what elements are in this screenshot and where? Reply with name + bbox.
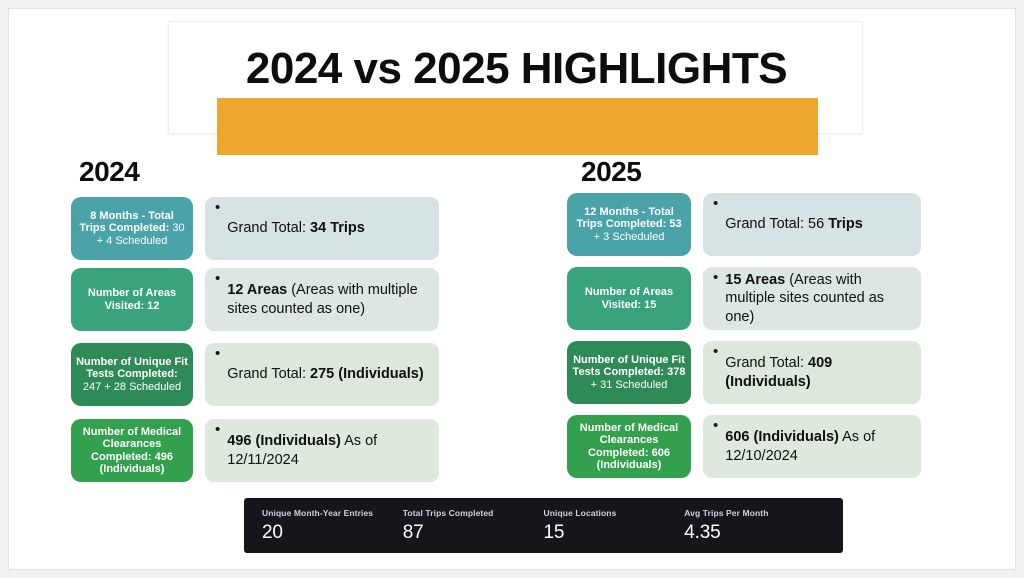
stat-label: Avg Trips Per Month — [684, 508, 825, 518]
metric-panel-prefix: Grand Total: — [725, 355, 808, 371]
metric-panel-bold: 496 (Individuals) — [227, 433, 341, 449]
bullet-icon: • — [713, 344, 718, 359]
metric-chip-value: 247 + 28 Scheduled — [83, 381, 181, 393]
metric-panel-bold: 15 Areas — [725, 272, 785, 288]
metric-row: Number of Areas Visited: 12 • 12 Areas (… — [71, 268, 439, 331]
metric-panel-bold: 34 Trips — [310, 220, 365, 236]
metric-panel-prefix: Grand Total: — [227, 220, 310, 236]
accent-bar — [217, 98, 818, 155]
stat-total-trips-completed: Total Trips Completed 87 — [403, 508, 544, 544]
metric-row: Number of Medical Clearances Completed: … — [71, 419, 439, 482]
metric-panel: • 12 Areas (Areas with multiple sites co… — [205, 268, 439, 331]
stat-label: Unique Month-Year Entries — [262, 508, 403, 518]
metric-panel-bold: 12 Areas — [227, 282, 287, 298]
metric-panel: • Grand Total: 56 Trips — [703, 193, 921, 256]
metric-chip[interactable]: Number of Areas Visited: 15 — [567, 267, 691, 330]
bullet-icon: • — [215, 422, 220, 437]
bullet-icon: • — [713, 196, 718, 211]
metric-chip-label: Number of Medical Clearances Completed: … — [83, 426, 181, 475]
stat-avg-trips-per-month: Avg Trips Per Month 4.35 — [684, 508, 825, 544]
bullet-icon: • — [215, 346, 220, 361]
bullet-icon: • — [713, 270, 718, 285]
metric-row: Number of Unique Fit Tests Completed: 24… — [71, 343, 439, 406]
metric-chip[interactable]: 8 Months - Total Trips Completed: 30 + 4… — [71, 197, 193, 260]
metric-chip[interactable]: Number of Medical Clearances Completed: … — [567, 415, 691, 478]
metric-chip-label: Number of Areas Visited: 12 — [88, 287, 176, 311]
stat-label: Total Trips Completed — [403, 508, 544, 518]
stat-label: Unique Locations — [544, 508, 685, 518]
metric-chip[interactable]: 12 Months - Total Trips Completed: 53 + … — [567, 193, 691, 256]
metric-panel-prefix: Grand Total: — [227, 366, 310, 382]
metric-chip[interactable]: Number of Unique Fit Tests Completed: 37… — [567, 341, 691, 404]
bullet-icon: • — [713, 418, 718, 433]
metric-chip-label: Number of Unique Fit Tests Completed: — [76, 356, 188, 380]
stat-unique-locations: Unique Locations 15 — [544, 508, 685, 544]
metric-row: Number of Medical Clearances Completed: … — [567, 415, 921, 478]
metric-panel-bold: 606 (Individuals) — [725, 429, 839, 445]
metric-panel: • 15 Areas (Areas with multiple sites co… — [703, 267, 921, 330]
metric-row: 8 Months - Total Trips Completed: 30 + 4… — [71, 197, 439, 260]
summary-stats-bar: Unique Month-Year Entries 20 Total Trips… — [244, 498, 843, 553]
stat-value: 15 — [544, 522, 685, 544]
metric-chip-label: 12 Months - Total Trips Completed: 53 — [576, 206, 681, 230]
metric-panel: • 496 (Individuals) As of 12/11/2024 — [205, 419, 439, 482]
stat-value: 87 — [403, 522, 544, 544]
year-heading-2025: 2025 — [581, 156, 641, 188]
metric-panel: • Grand Total: 275 (Individuals) — [205, 343, 439, 406]
metric-row: 12 Months - Total Trips Completed: 53 + … — [567, 193, 921, 256]
metric-row: Number of Areas Visited: 15 • 15 Areas (… — [567, 267, 921, 330]
metric-panel: • Grand Total: 34 Trips — [205, 197, 439, 260]
metric-chip-label: Number of Medical Clearances Completed: … — [580, 422, 678, 471]
metric-panel: • Grand Total: 409 (Individuals) — [703, 341, 921, 404]
bullet-icon: • — [215, 200, 220, 215]
stat-value: 4.35 — [684, 522, 825, 544]
metric-chip-label: Number of Unique Fit Tests Completed: 37… — [573, 354, 686, 378]
stat-value: 20 — [262, 522, 403, 544]
year-heading-2024: 2024 — [79, 156, 139, 188]
metric-chip[interactable]: Number of Unique Fit Tests Completed: 24… — [71, 343, 193, 406]
metric-chip-value: + 3 Scheduled — [594, 231, 665, 243]
metric-panel-bold: 275 (Individuals) — [310, 366, 424, 382]
metric-panel-prefix: Grand Total: 56 — [725, 216, 828, 232]
metric-chip[interactable]: Number of Areas Visited: 12 — [71, 268, 193, 331]
stat-unique-month-year-entries: Unique Month-Year Entries 20 — [262, 508, 403, 544]
metric-panel: • 606 (Individuals) As of 12/10/2024 — [703, 415, 921, 478]
metric-row: Number of Unique Fit Tests Completed: 37… — [567, 341, 921, 404]
metric-chip-value: + 31 Scheduled — [591, 379, 668, 391]
metric-chip-label: Number of Areas Visited: 15 — [585, 286, 673, 310]
metric-chip-label: 8 Months - Total Trips Completed: — [79, 210, 173, 234]
page-title: 2024 vs 2025 HIGHLIGHTS — [169, 44, 864, 94]
metric-panel-bold: Trips — [828, 216, 863, 232]
slide-canvas: 2024 vs 2025 HIGHLIGHTS 2024 2025 8 Mont… — [8, 8, 1016, 570]
bullet-icon: • — [215, 271, 220, 286]
metric-chip[interactable]: Number of Medical Clearances Completed: … — [71, 419, 193, 482]
